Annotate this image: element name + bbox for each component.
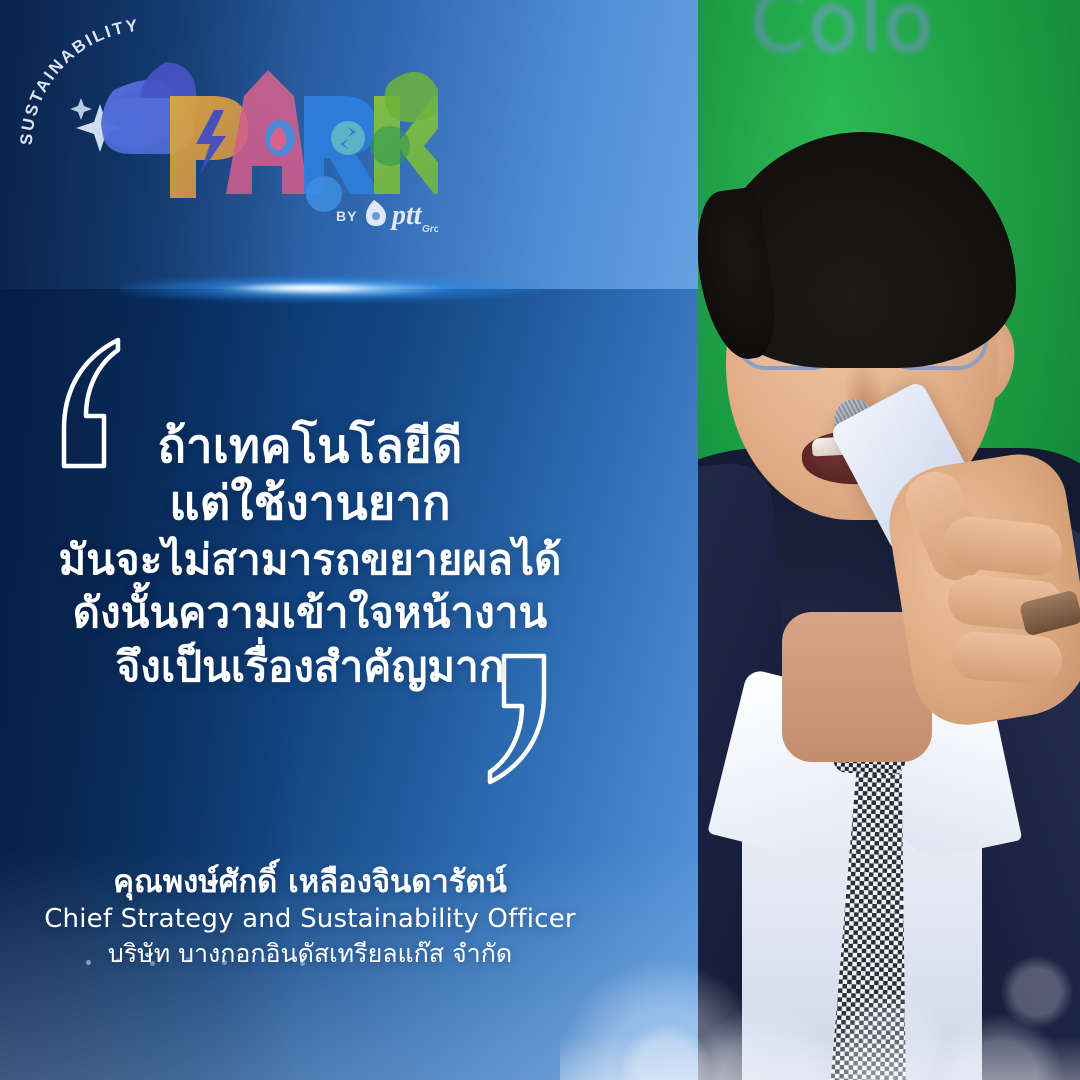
quote-line: จึงเป็นเรื่องสำคัญมาก <box>30 640 590 694</box>
quote-line: ถ้าเทคโนโลยีดี <box>30 418 590 475</box>
logo-letter-r <box>304 96 380 212</box>
speaker-name: คุณพงษ์ศักดิ์ เหลืองจินดารัตน์ <box>0 862 620 902</box>
logo-letter-k <box>370 72 438 194</box>
quote-line: แต่ใช้งานยาก <box>30 475 590 532</box>
quote-text: ถ้าเทคโนโลยีดี แต่ใช้งานยาก มันจะไม่สามา… <box>30 418 590 694</box>
logo-letter-a <box>226 70 308 194</box>
finger-ring <box>950 630 1063 686</box>
attribution-block: คุณพงษ์ศักดิ์ เหลืองจินดารัตน์ Chief Str… <box>0 862 620 971</box>
ptt-group-sublabel: Group <box>422 224 438 233</box>
sustainability-spark-quote-card: Colo Prese on <box>0 0 1080 1080</box>
quote-line: มันจะไม่สามารถขยายผลได้ <box>30 533 590 587</box>
speaker-role: Chief Strategy and Sustainability Office… <box>0 902 620 937</box>
logo-artwork: SUSTAINABILITY <box>18 18 438 233</box>
quote-line: ดังนั้นความเข้าใจหน้างาน <box>30 586 590 640</box>
by-label: BY <box>336 208 357 224</box>
sparkle-star-small-icon <box>70 98 92 120</box>
backdrop-word-1: Colo <box>750 0 934 71</box>
ptt-wordmark: ptt <box>390 200 423 231</box>
speaker-organization: บริษัท บางกอกอินดัสเทรียลแก๊ส จำกัด <box>0 937 620 971</box>
ptt-group-lockup: BY ptt Group <box>336 200 438 233</box>
sustainability-spark-logo: SUSTAINABILITY <box>18 18 438 233</box>
